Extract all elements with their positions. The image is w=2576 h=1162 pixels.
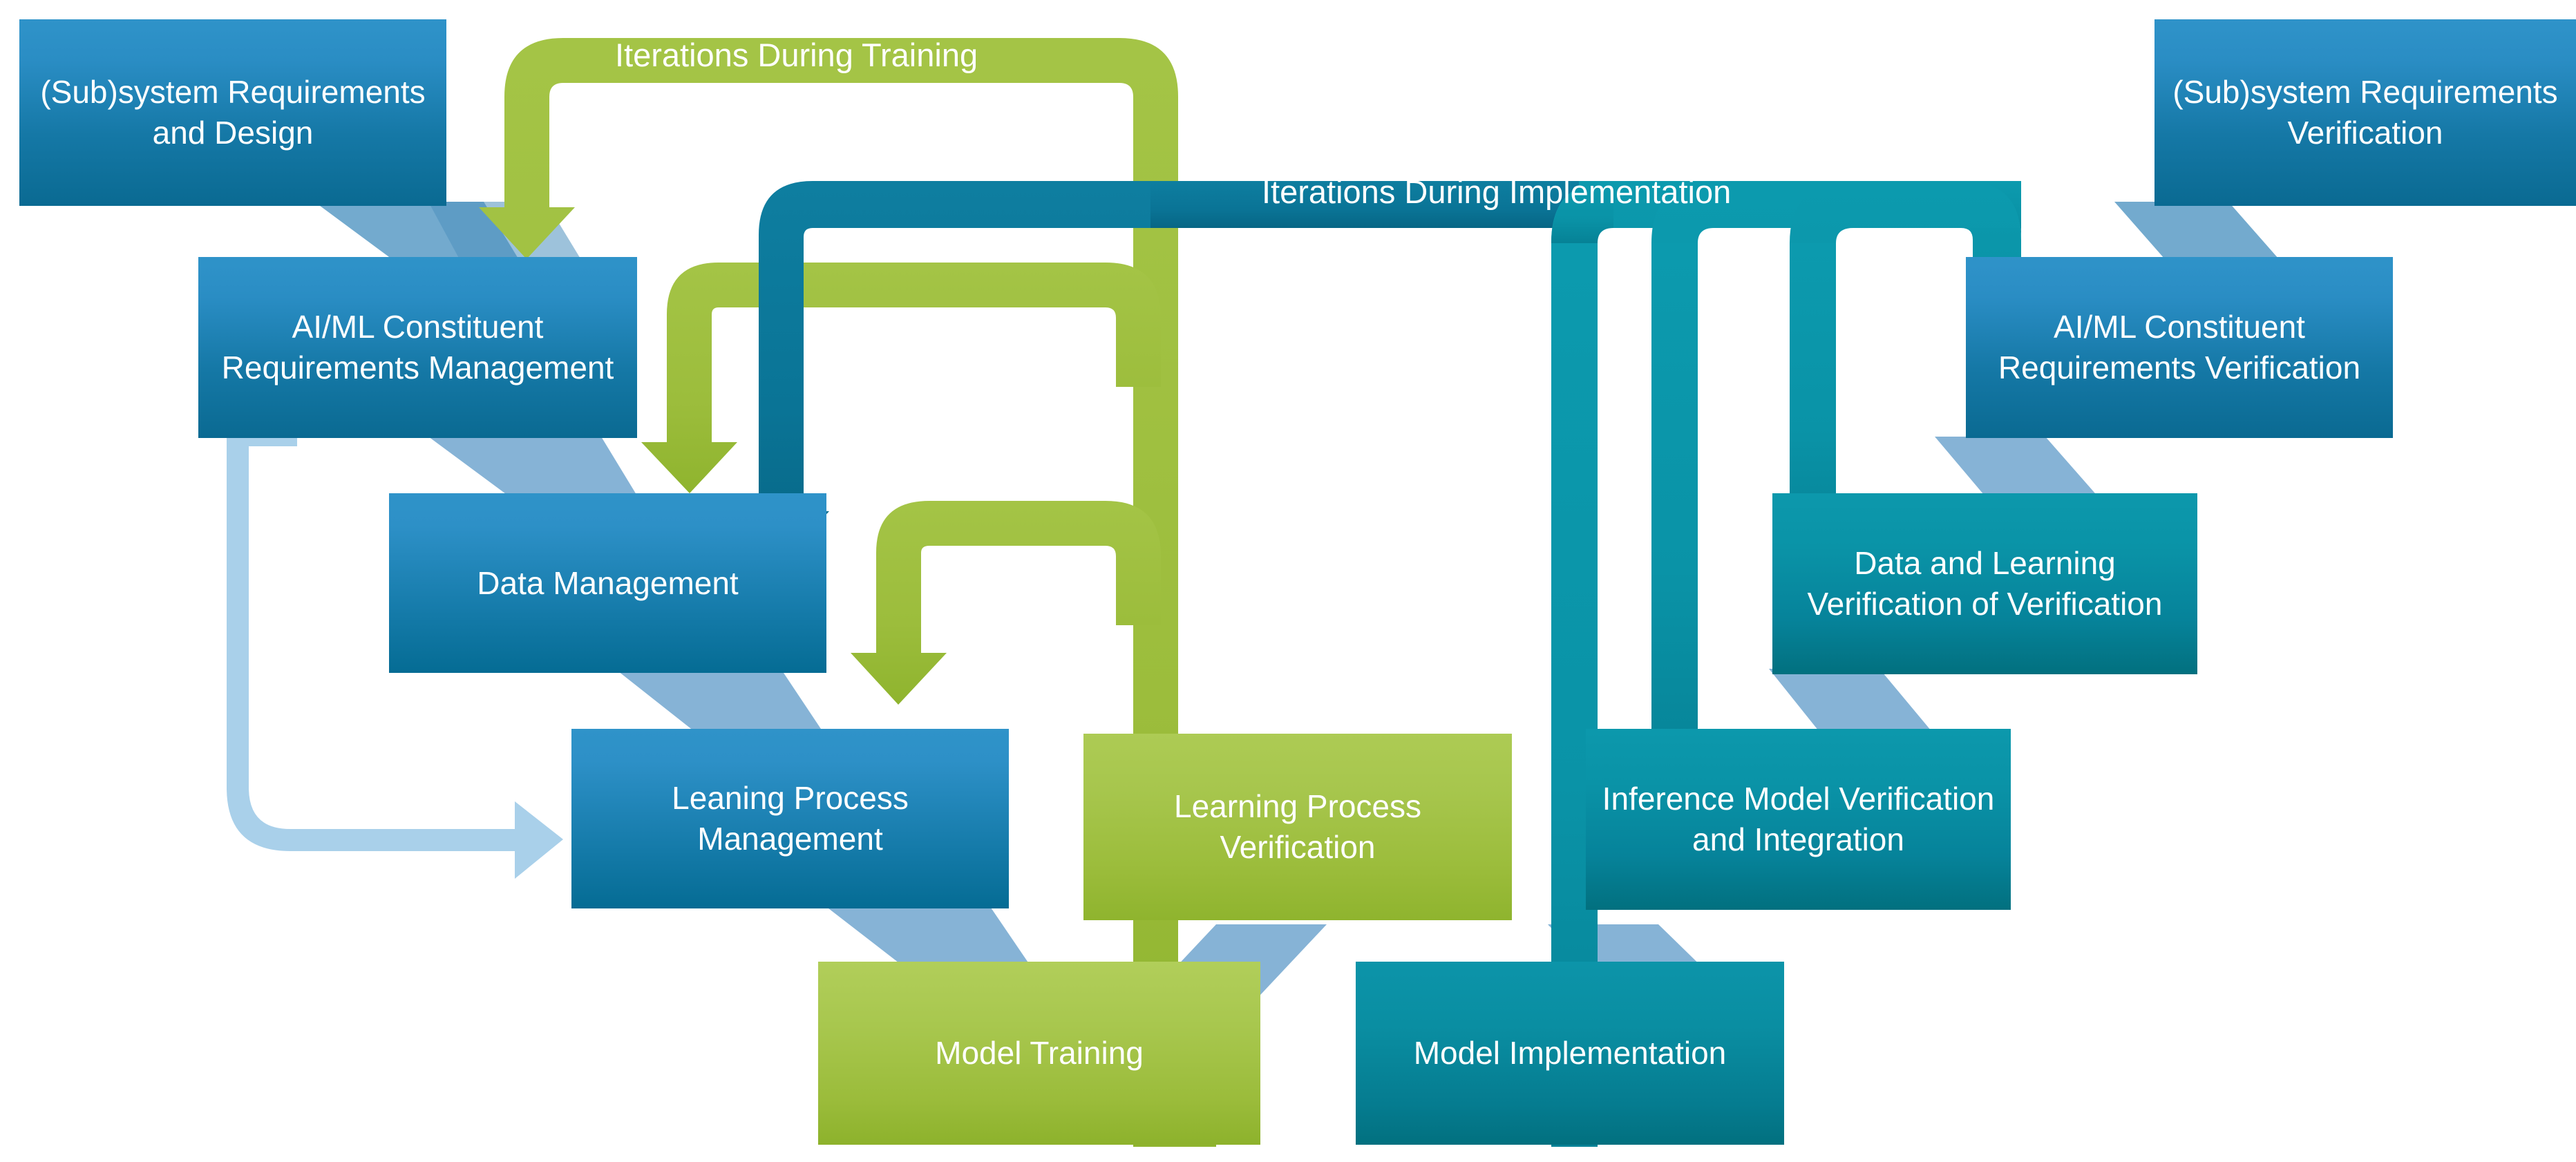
node-label: (Sub)system Requirements and Design	[29, 72, 437, 153]
node-learning-process-verification[interactable]: Learning Process Verification	[1083, 734, 1512, 920]
node-model-implementation[interactable]: Model Implementation	[1356, 962, 1784, 1145]
node-data-and-learning-verification-of-verification[interactable]: Data and Learning Verification of Verifi…	[1772, 493, 2197, 674]
node-label: Inference Model Verification and Integra…	[1595, 779, 2001, 860]
loop-label-iterations-during-training: Iterations During Training	[615, 36, 978, 74]
green-iteration-loop-inner	[851, 501, 1161, 705]
node-subsystem-requirements-verification[interactable]: (Sub)system Requirements Verification	[2154, 19, 2576, 206]
node-aiml-constituent-requirements-management[interactable]: AI/ML Constituent Requirements Managemen…	[198, 257, 637, 438]
node-label: Data and Learning Verification of Verifi…	[1782, 543, 2188, 625]
node-label: (Sub)system Requirements Verification	[2164, 72, 2566, 153]
node-aiml-constituent-requirements-verification[interactable]: AI/ML Constituent Requirements Verificat…	[1966, 257, 2393, 438]
node-data-management[interactable]: Data Management	[389, 493, 826, 673]
node-label: Leaning Process Management	[581, 778, 999, 859]
node-label: Model Training	[828, 1033, 1251, 1074]
node-model-training[interactable]: Model Training	[818, 962, 1260, 1145]
node-subsystem-requirements-and-design[interactable]: (Sub)system Requirements and Design	[19, 19, 446, 206]
loop-label-iterations-during-implementation: Iterations During Implementation	[1262, 173, 1731, 211]
node-label: Model Implementation	[1365, 1033, 1774, 1074]
node-label: Learning Process Verification	[1093, 786, 1502, 868]
node-leaning-process-management[interactable]: Leaning Process Management	[571, 729, 1009, 908]
green-iteration-loop-mid	[641, 263, 1161, 493]
node-label: AI/ML Constituent Requirements Verificat…	[1976, 307, 2383, 388]
node-label: Data Management	[399, 563, 817, 604]
node-label: AI/ML Constituent Requirements Managemen…	[208, 307, 627, 388]
diagram-canvas: Iterations During Training Iterations Du…	[0, 0, 2576, 1162]
node-inference-model-verification-and-integration[interactable]: Inference Model Verification and Integra…	[1586, 729, 2011, 910]
